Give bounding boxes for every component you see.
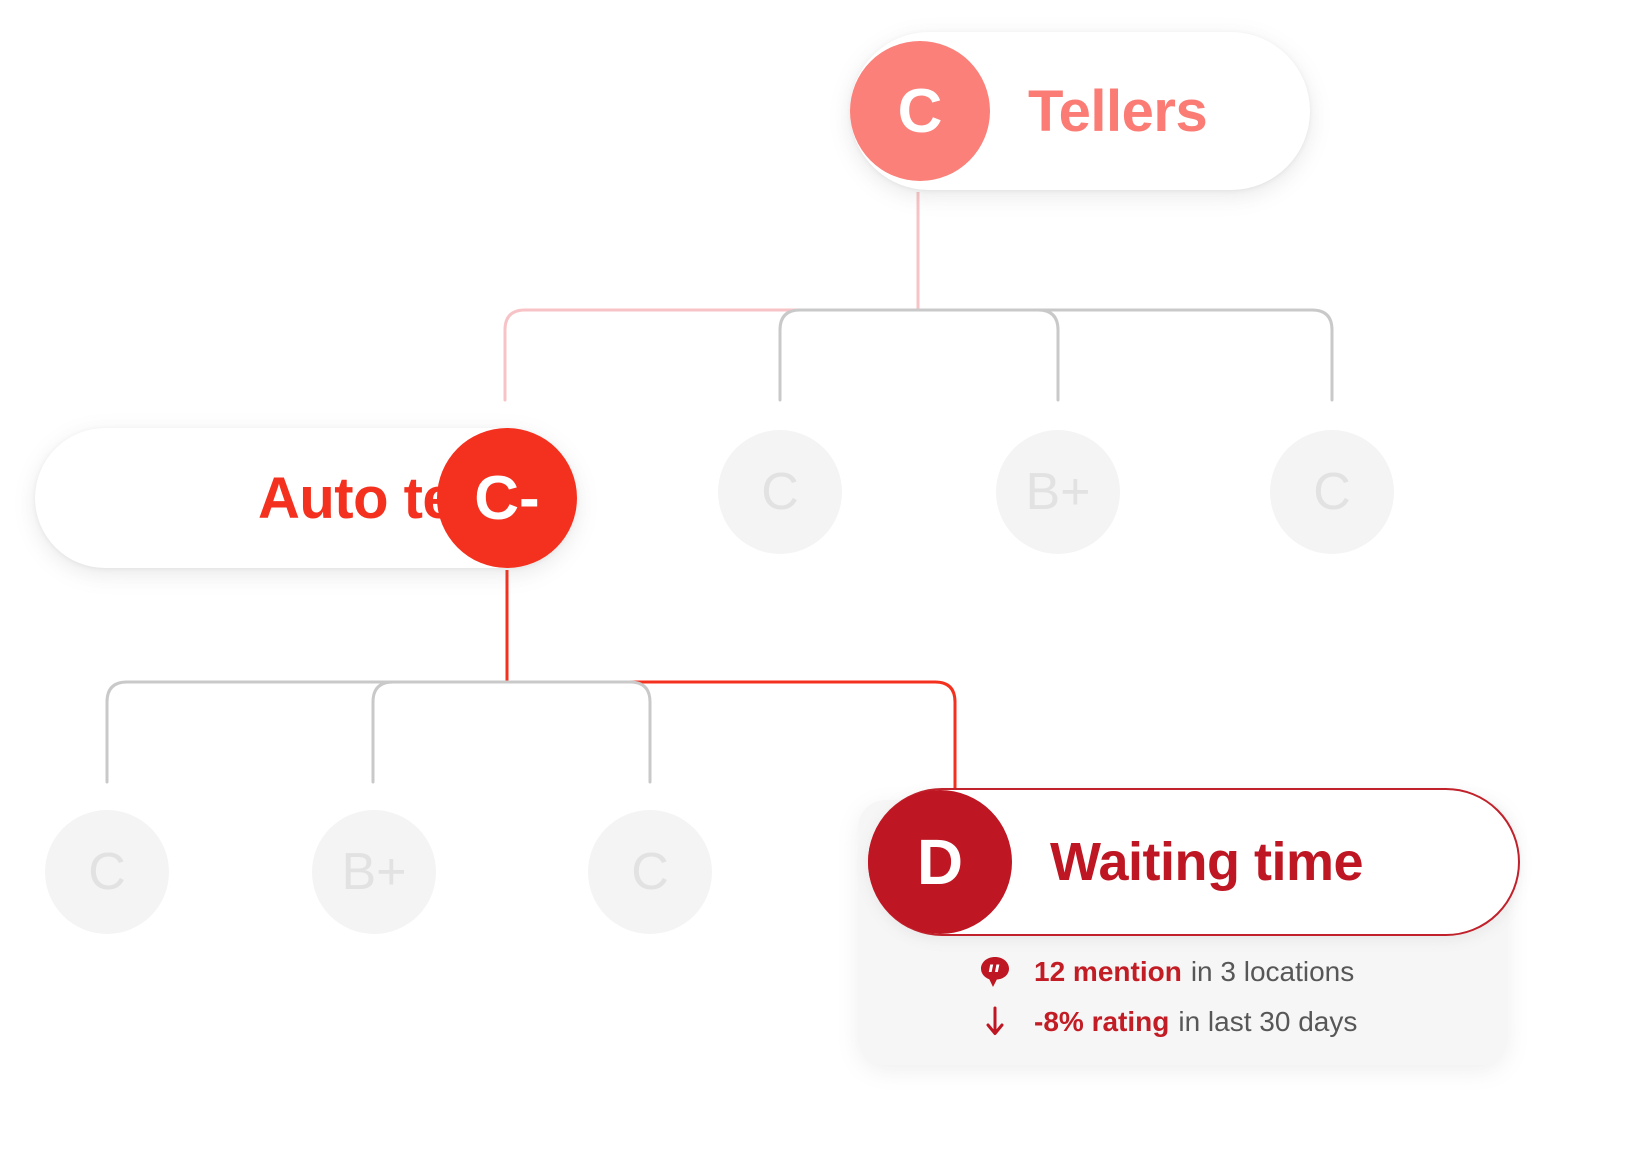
ghost-node-l2-1[interactable]: C <box>718 430 842 554</box>
waiting-time-stats: 12 mention in 3 locations -8% rating in … <box>978 955 1357 1039</box>
waiting-time-title: Waiting time <box>1050 831 1363 893</box>
stat-row-mentions: 12 mention in 3 locations <box>978 955 1357 989</box>
stat-mentions-value: 12 mention <box>1034 956 1182 988</box>
ghost-node-l3-2[interactable]: B+ <box>312 810 436 934</box>
mention-bubble-icon <box>978 955 1012 989</box>
ghost-node-l3-1[interactable]: C <box>45 810 169 934</box>
card-waiting-time-header[interactable]: D Waiting time <box>868 788 1520 936</box>
arrow-down-icon <box>978 1005 1012 1039</box>
stat-rating-value: -8% rating <box>1034 1006 1169 1038</box>
auto-tellers-grade-badge: C- <box>437 428 577 568</box>
ghost-node-l2-3[interactable]: C <box>1270 430 1394 554</box>
ghost-node-l2-2[interactable]: B+ <box>996 430 1120 554</box>
ghost-node-l3-3[interactable]: C <box>588 810 712 934</box>
connector-root-to-ghost-2 <box>918 310 1058 400</box>
ghost-grade-label: C <box>631 842 669 902</box>
connector-root-to-ghost-1 <box>780 310 918 400</box>
connector-root-to-autotellers <box>505 310 918 400</box>
ghost-grade-label: B+ <box>341 842 406 902</box>
node-tellers[interactable]: C Tellers <box>850 32 1310 190</box>
ghost-grade-label: C <box>88 842 126 902</box>
ghost-grade-label: C <box>1313 462 1351 522</box>
connector-autotellers-to-waiting <box>507 682 955 790</box>
node-auto-tellers[interactable]: Auto tellers C- <box>35 428 577 568</box>
auto-tellers-grade-label: C- <box>474 463 539 534</box>
card-waiting-time[interactable]: D Waiting time 12 mention in 3 locations <box>858 800 1508 1065</box>
waiting-time-grade-label: D <box>917 825 963 899</box>
stat-rating-rest: in last 30 days <box>1178 1006 1357 1038</box>
ghost-grade-label: C <box>761 462 799 522</box>
connector-autotellers-to-ghost-3 <box>507 682 650 782</box>
tellers-grade-badge: C <box>850 41 990 181</box>
connector-root-to-ghost-3 <box>918 310 1332 400</box>
stat-row-rating: -8% rating in last 30 days <box>978 1005 1357 1039</box>
stat-mentions-rest: in 3 locations <box>1191 956 1354 988</box>
waiting-time-grade-badge: D <box>868 790 1012 934</box>
hierarchy-diagram-canvas: C Tellers C B+ C Auto tellers C- C B+ C … <box>0 0 1636 1165</box>
connector-autotellers-to-ghost-1 <box>107 682 507 782</box>
connector-autotellers-to-ghost-2 <box>373 682 507 782</box>
tellers-label: Tellers <box>1028 78 1207 145</box>
ghost-grade-label: B+ <box>1025 462 1090 522</box>
tellers-grade-label: C <box>898 76 943 147</box>
